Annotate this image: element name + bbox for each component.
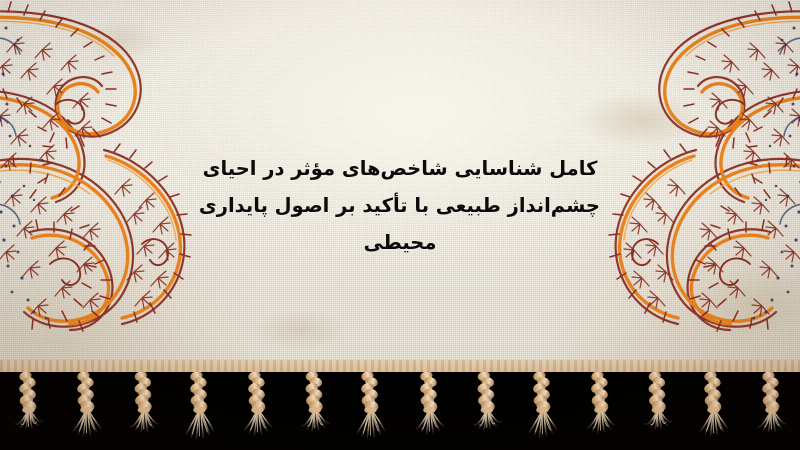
tassel <box>12 372 46 450</box>
tassel <box>754 372 788 450</box>
title-line-1: کامل شناسایی شاخص‌های مؤثر در احیای <box>200 150 600 187</box>
tassel <box>183 372 217 450</box>
tassel <box>469 372 503 450</box>
title-line-2: چشم‌انداز طبیعی با تأکید بر اصول پایداری <box>200 187 600 224</box>
tassel <box>583 372 617 450</box>
slide-title: کامل شناسایی شاخص‌های مؤثر در احیای چشم‌… <box>200 150 600 261</box>
title-line-3: محیطی <box>200 224 600 261</box>
tassel <box>697 372 731 450</box>
tassel <box>69 372 103 450</box>
tassel <box>354 372 388 450</box>
tassel <box>526 372 560 450</box>
tassel <box>126 372 160 450</box>
tassel <box>297 372 331 450</box>
tassel-fringe <box>0 372 800 450</box>
tassel <box>412 372 446 450</box>
tassel <box>640 372 674 450</box>
tassel <box>240 372 274 450</box>
slide-canvas: کامل شناسایی شاخص‌های مؤثر در احیای چشم‌… <box>0 0 800 450</box>
